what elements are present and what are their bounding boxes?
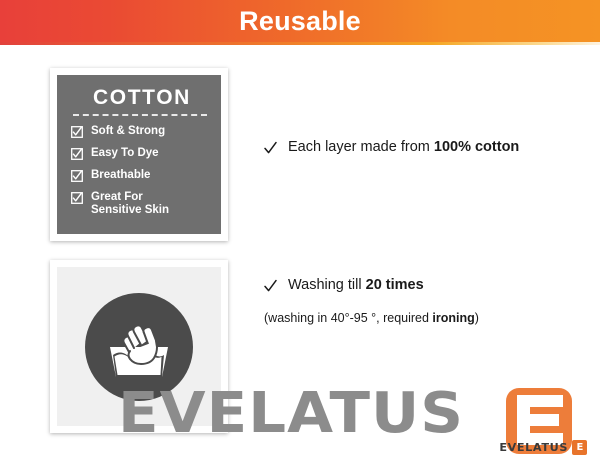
bullet-cotton-text: Each layer made from 100% cotton (288, 139, 519, 156)
list-item: Easy To Dye (71, 147, 213, 160)
cotton-card-title: COTTON (71, 87, 213, 108)
header-divider (0, 42, 600, 45)
checkbox-checked-icon (71, 170, 83, 182)
check-mark-icon (264, 141, 277, 156)
cotton-feature-label: Breathable (91, 169, 150, 182)
bullet-washing-text-bold: 20 times (366, 277, 424, 293)
header-banner: Reusable (0, 0, 600, 42)
cotton-feature-label: Great For Sensitive Skin (91, 191, 169, 217)
cotton-card-body: COTTON Soft & Strong (57, 75, 221, 234)
list-item: Breathable (71, 169, 213, 182)
bullet-washing: Washing till 20 times (264, 277, 424, 294)
logo-letter-e-icon (517, 395, 563, 445)
cotton-feature-label: Easy To Dye (91, 147, 159, 160)
cotton-feature-list: Soft & Strong Easy To Dye (71, 125, 213, 217)
sub-note-bold: ironing (432, 311, 474, 325)
bullet-washing-text-normal: Washing till (288, 277, 366, 293)
wordmark-text: EVELATUS (499, 441, 568, 454)
checkbox-checked-icon (71, 126, 83, 138)
evelatus-watermark: EVELATUS (118, 386, 464, 442)
washing-sub-note: (washing in 40°-95 °, required ironing) (264, 310, 479, 326)
sub-note-prefix: (washing in 40°-95 °, required (264, 311, 432, 325)
wordmark-badge-icon: E (572, 440, 587, 455)
checkbox-checked-icon (71, 192, 83, 204)
cotton-card: COTTON Soft & Strong (50, 68, 228, 241)
cotton-card-divider (73, 114, 207, 116)
bullet-cotton-text-bold: 100% cotton (434, 139, 519, 155)
list-item: Soft & Strong (71, 125, 213, 138)
sub-note-suffix: ) (475, 311, 479, 325)
evelatus-wordmark: EVELATUS E (500, 440, 587, 455)
checkbox-checked-icon (71, 148, 83, 160)
check-mark-icon (264, 279, 277, 294)
bullet-cotton: Each layer made from 100% cotton (264, 139, 519, 156)
bullet-washing-text: Washing till 20 times (288, 277, 424, 294)
list-item: Great For Sensitive Skin (71, 191, 213, 217)
cotton-feature-label: Soft & Strong (91, 125, 165, 138)
bullet-cotton-text-normal: Each layer made from (288, 139, 434, 155)
page-title: Reusable (239, 8, 361, 35)
